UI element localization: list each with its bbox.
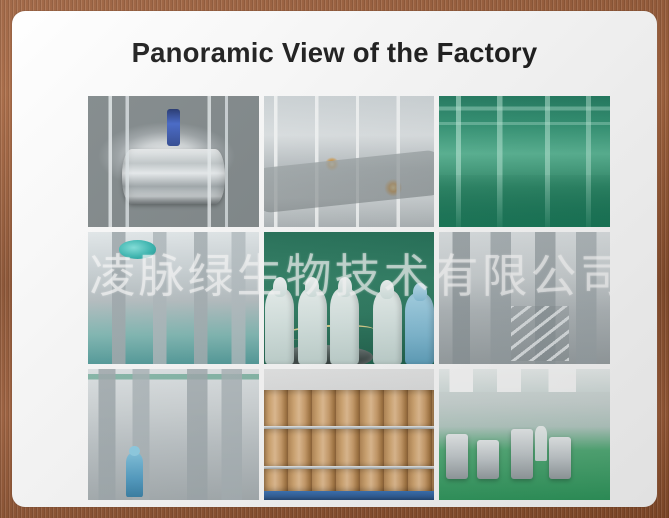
drum-row [264, 468, 435, 492]
evaporation-plant-image [88, 369, 259, 500]
packaging-cleanroom-image [439, 369, 610, 500]
slide-frame: Panoramic View of the Factory [0, 0, 669, 518]
green-industrial-hall-image [439, 96, 610, 227]
material-bundle [280, 322, 375, 342]
worker-figure [298, 288, 327, 364]
packaging-machine [477, 440, 499, 479]
photo-cell-packaging-cleanroom[interactable] [439, 369, 610, 500]
photo-cell-fiber-drum-warehouse[interactable] [264, 369, 435, 500]
operator-figure [126, 453, 143, 498]
worker-figure [373, 290, 402, 364]
cleanroom-workers-image [264, 232, 435, 363]
photo-gallery-grid [88, 96, 610, 500]
fiber-drum-warehouse-image [264, 369, 435, 500]
photo-cell-extraction-tank-room[interactable] [88, 232, 259, 363]
slide-panel: Panoramic View of the Factory [12, 11, 657, 507]
photo-cell-stainless-steel-fermenter[interactable] [88, 96, 259, 227]
operator-figure [535, 426, 547, 460]
photo-cell-evaporation-plant[interactable] [88, 369, 259, 500]
worker-figure [265, 288, 294, 364]
pipe-overlay [88, 96, 259, 227]
drum-row [264, 390, 435, 429]
blue-pallet [264, 491, 435, 500]
worker-figure [405, 293, 434, 364]
reactor-production-line-image [264, 96, 435, 227]
worker-figure [330, 288, 359, 364]
extraction-tank-room-image [88, 232, 259, 363]
packaging-machine [446, 434, 468, 479]
photo-cell-reactor-production-line[interactable] [264, 96, 435, 227]
page-title: Panoramic View of the Factory [12, 37, 657, 69]
drum-row [264, 429, 435, 468]
photo-cell-mixing-granulation-hall[interactable] [439, 232, 610, 363]
drum-strap [264, 466, 435, 469]
stainless-steel-fermenter-image [88, 96, 259, 227]
mixing-granulation-hall-image [439, 232, 610, 363]
packaging-machine [511, 429, 533, 479]
photo-cell-cleanroom-workers[interactable] [264, 232, 435, 363]
packaging-machine [549, 437, 571, 479]
photo-cell-green-industrial-hall[interactable] [439, 96, 610, 227]
drum-strap [264, 426, 435, 429]
